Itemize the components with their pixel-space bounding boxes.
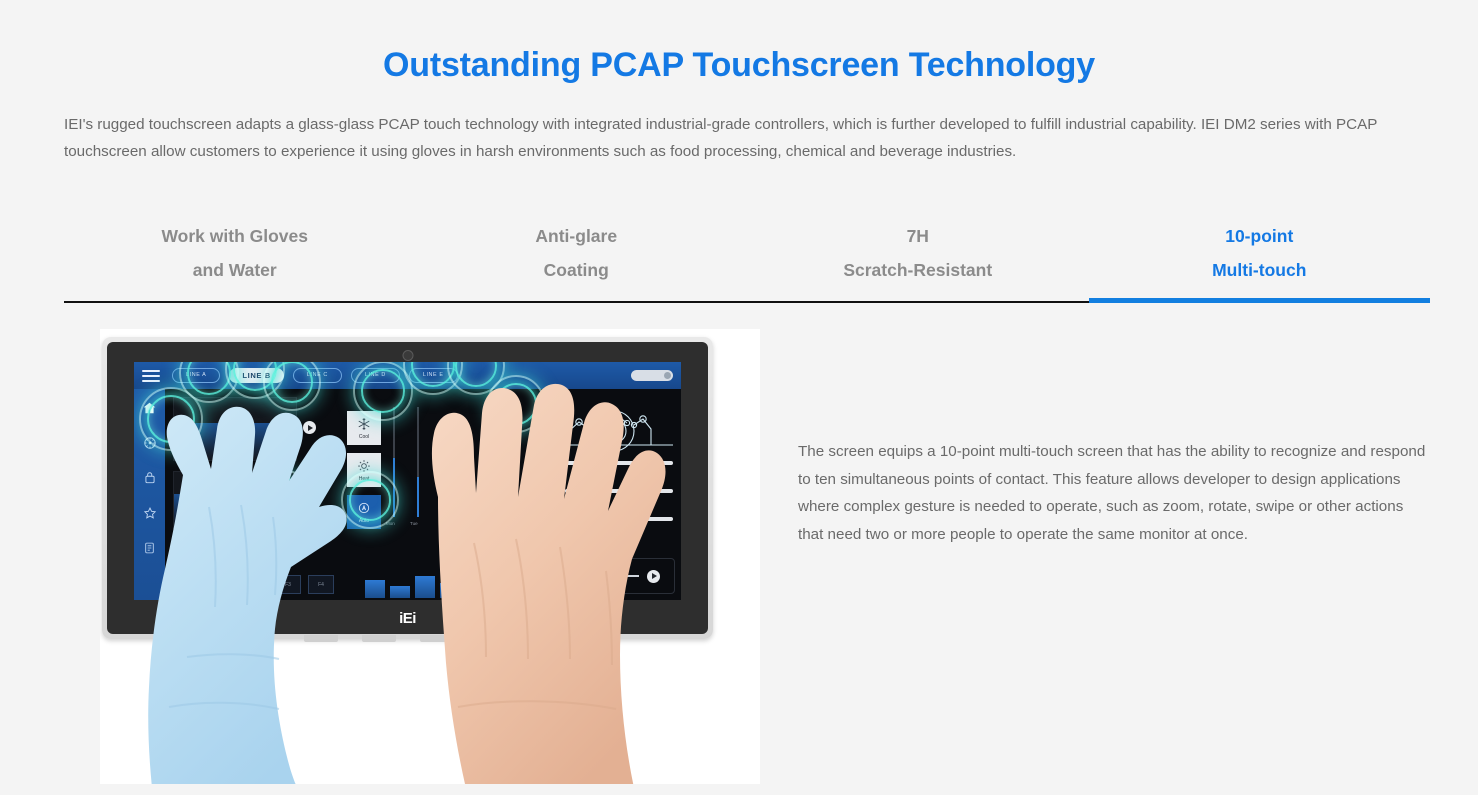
tab-label-line1: 10-point [1089, 219, 1431, 253]
heat-button[interactable]: Heat [347, 453, 381, 487]
tab-panel-10-point-multi-touch: iEi LINE A LINE B LINE C LINE D LINE E [64, 303, 1430, 784]
chart-card [173, 397, 297, 461]
hamburger-icon[interactable] [142, 367, 160, 385]
cool-label: Cool [359, 434, 369, 440]
tab-7h-scratch-resistant[interactable]: 7H Scratch-Resistant [747, 219, 1089, 303]
tab-10-point-multi-touch[interactable]: 10-point Multi-touch [1089, 219, 1431, 303]
touch-ripple [495, 383, 537, 425]
play-icon[interactable] [303, 421, 316, 434]
slider-tue-label: Tue [410, 521, 418, 526]
hmi-tab-line-e[interactable]: LINE E [409, 368, 458, 383]
corner-control-bar [613, 575, 639, 577]
auto-label: Auto [359, 518, 369, 524]
monitor-mount-tabs [304, 635, 512, 642]
hmi-function-keys: F3 F4 [275, 575, 334, 594]
chart-card [173, 471, 297, 529]
robot-arm-icon [555, 401, 673, 458]
tag-icon[interactable] [143, 471, 157, 485]
monitor-bezel: iEi LINE A LINE B LINE C LINE D LINE E [107, 342, 708, 634]
hmi-tab-line-a[interactable]: LINE A [172, 368, 220, 383]
snowflake-icon [357, 417, 371, 433]
document-icon[interactable] [143, 541, 156, 555]
hmi-vertical-sliders: Mon Tue [393, 407, 419, 517]
tab-label-line2: Scratch-Resistant [747, 253, 1089, 287]
hmi-mode-buttons: Cool Heat [347, 411, 381, 529]
auto-button[interactable]: Auto [347, 495, 381, 529]
star-icon[interactable] [143, 506, 157, 520]
camera-icon [402, 350, 413, 361]
tab-label-line2: and Water [64, 253, 406, 287]
hmi-horizontal-sliders [565, 461, 673, 521]
hmi-body: Cool Heat [134, 389, 681, 600]
h-slider[interactable] [565, 489, 673, 493]
hmi-level-bars [365, 576, 460, 598]
hmi-main-panel: Cool Heat [165, 389, 681, 600]
tab-anti-glare-coating[interactable]: Anti-glare Coating [406, 219, 748, 303]
slider-mon[interactable]: Mon [393, 407, 395, 517]
slider-mon-label: Mon [386, 521, 395, 526]
tab-label-line2: Coating [406, 253, 748, 287]
hmi-tab-line-b[interactable]: LINE B [229, 368, 284, 383]
tab-label-line1: 7H [747, 219, 1089, 253]
hmi-tab-line-c[interactable]: LINE C [293, 368, 342, 383]
function-key-f4[interactable]: F4 [308, 575, 334, 594]
tab-label-line1: Work with Gloves [64, 219, 406, 253]
h-slider[interactable] [565, 517, 673, 521]
home-icon[interactable] [142, 401, 157, 415]
tab-label-line1: Anti-glare [406, 219, 748, 253]
tab-label-line2: Multi-touch [1089, 253, 1431, 287]
hmi-tab-line-d[interactable]: LINE D [351, 368, 400, 383]
hmi-power-toggle[interactable] [631, 370, 673, 381]
feature-description: The screen equips a 10-point multi-touch… [798, 438, 1430, 548]
hmi-line-tabs: LINE A LINE B LINE C LINE D LINE E [172, 368, 458, 383]
slider-tue[interactable]: Tue [417, 407, 419, 517]
hmi-corner-control[interactable] [597, 558, 675, 594]
gauge-icon[interactable] [143, 436, 157, 450]
auto-circle-icon [357, 501, 371, 517]
panel-monitor: iEi LINE A LINE B LINE C LINE D LINE E [102, 337, 713, 639]
cool-button[interactable]: Cool [347, 411, 381, 445]
tab-work-with-gloves-and-water[interactable]: Work with Gloves and Water [64, 219, 406, 303]
heat-label: Heat [359, 476, 370, 482]
sun-icon [357, 459, 371, 475]
intro-paragraph: IEI's rugged touchscreen adapts a glass-… [64, 111, 1430, 165]
play-icon[interactable] [303, 489, 316, 502]
page-title: Outstanding PCAP Touchscreen Technology [0, 0, 1478, 85]
hmi-screen: LINE A LINE B LINE C LINE D LINE E [134, 362, 681, 600]
feature-tabs: Work with Gloves and Water Anti-glare Co… [64, 219, 1430, 303]
hmi-sidebar [134, 389, 165, 600]
hmi-topbar: LINE A LINE B LINE C LINE D LINE E [134, 362, 681, 389]
function-key-f3[interactable]: F3 [275, 575, 301, 594]
play-icon[interactable] [647, 570, 660, 583]
h-slider[interactable] [565, 461, 673, 465]
iei-logo: iEi [399, 610, 416, 627]
product-image: iEi LINE A LINE B LINE C LINE D LINE E [100, 329, 760, 784]
